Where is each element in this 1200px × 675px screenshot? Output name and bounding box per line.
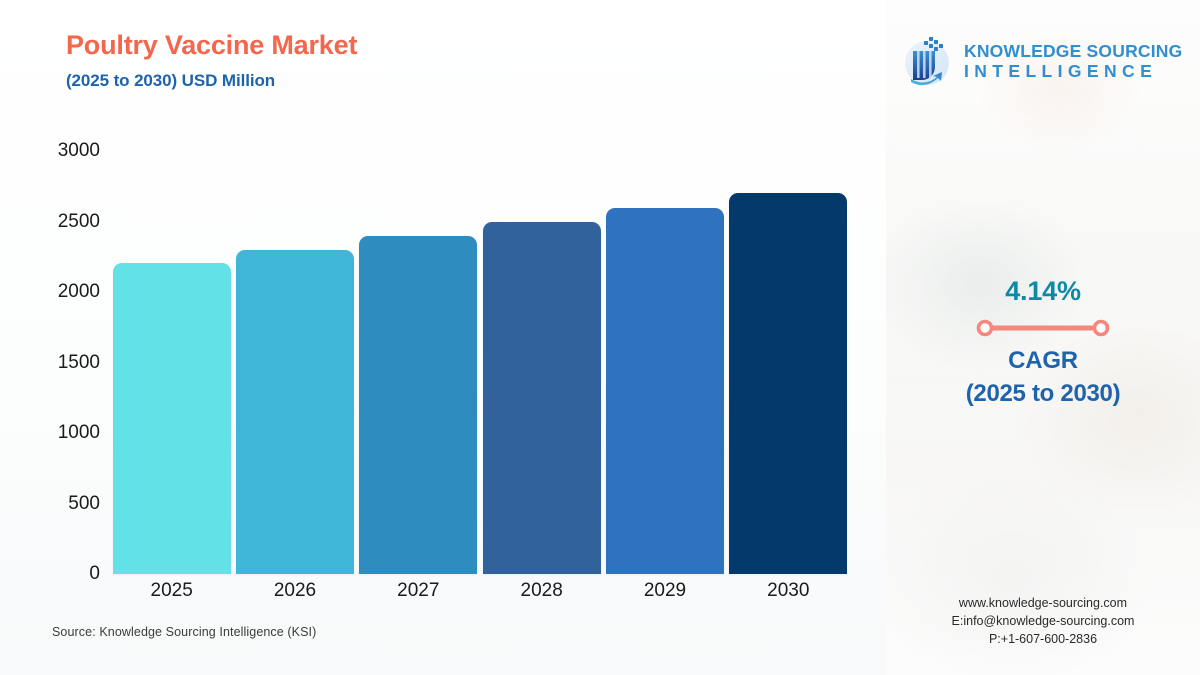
chart-panel: Poultry Vaccine Market (2025 to 2030) US…	[0, 0, 886, 675]
contact-email[interactable]: E:info@knowledge-sourcing.com	[886, 613, 1200, 631]
cagr-connector-icon	[973, 319, 1113, 337]
bar-2029[interactable]	[606, 208, 724, 574]
x-axis-label-2030: 2030	[727, 580, 850, 602]
brand-name-line1: KNOWLEDGE SOURCING	[964, 41, 1182, 61]
bar-2027[interactable]	[359, 236, 477, 574]
brand-logo[interactable]: KNOWLEDGE SOURCING INTELLIGENCE	[898, 33, 1200, 91]
bar-2026[interactable]	[236, 250, 354, 574]
bar-slot	[359, 151, 477, 574]
brand-name-line2: INTELLIGENCE	[964, 61, 1157, 81]
x-axis-label-2027: 2027	[357, 580, 480, 602]
infographic-page: Poultry Vaccine Market (2025 to 2030) US…	[0, 0, 1200, 675]
cagr-range: (2025 to 2030)	[886, 380, 1200, 408]
bar-2025[interactable]	[113, 263, 231, 574]
bar-slot	[113, 151, 231, 574]
x-axis-label-2029: 2029	[603, 580, 726, 602]
bar-slot	[606, 151, 724, 574]
bar-chart: 050010001500200025003000 202520262027202…	[0, 0, 886, 675]
bar-slot	[483, 151, 601, 574]
contact-website[interactable]: www.knowledge-sourcing.com	[886, 595, 1200, 613]
cagr-block: 4.14% CAGR (2025 to 2030)	[886, 276, 1200, 408]
bar-slot	[729, 151, 847, 574]
y-axis-tick: 2000	[12, 281, 100, 303]
y-axis-tick: 2500	[12, 211, 100, 233]
bar-2030[interactable]	[729, 193, 847, 574]
y-axis-tick: 0	[12, 563, 100, 585]
brand-logo-text: KNOWLEDGE SOURCING INTELLIGENCE	[964, 42, 1200, 82]
y-axis-tick: 3000	[12, 140, 100, 162]
bar-2028[interactable]	[483, 222, 601, 574]
ksi-logo-icon	[898, 33, 956, 91]
cagr-value: 4.14%	[886, 276, 1200, 307]
cagr-label: CAGR	[886, 347, 1200, 375]
contact-info: www.knowledge-sourcing.com E:info@knowle…	[886, 595, 1200, 648]
y-axis-tick: 1500	[12, 352, 100, 374]
side-panel: KNOWLEDGE SOURCING INTELLIGENCE 4.14% CA…	[886, 0, 1200, 675]
x-axis-label-2026: 2026	[233, 580, 356, 602]
x-axis-label-2025: 2025	[110, 580, 233, 602]
bars-area	[110, 151, 850, 574]
y-axis-tick: 500	[12, 493, 100, 515]
source-note: Source: Knowledge Sourcing Intelligence …	[52, 625, 316, 639]
bar-slot	[236, 151, 354, 574]
contact-phone: P:+1-607-600-2836	[886, 631, 1200, 649]
y-axis-tick: 1000	[12, 422, 100, 444]
x-axis-label-2028: 2028	[480, 580, 603, 602]
